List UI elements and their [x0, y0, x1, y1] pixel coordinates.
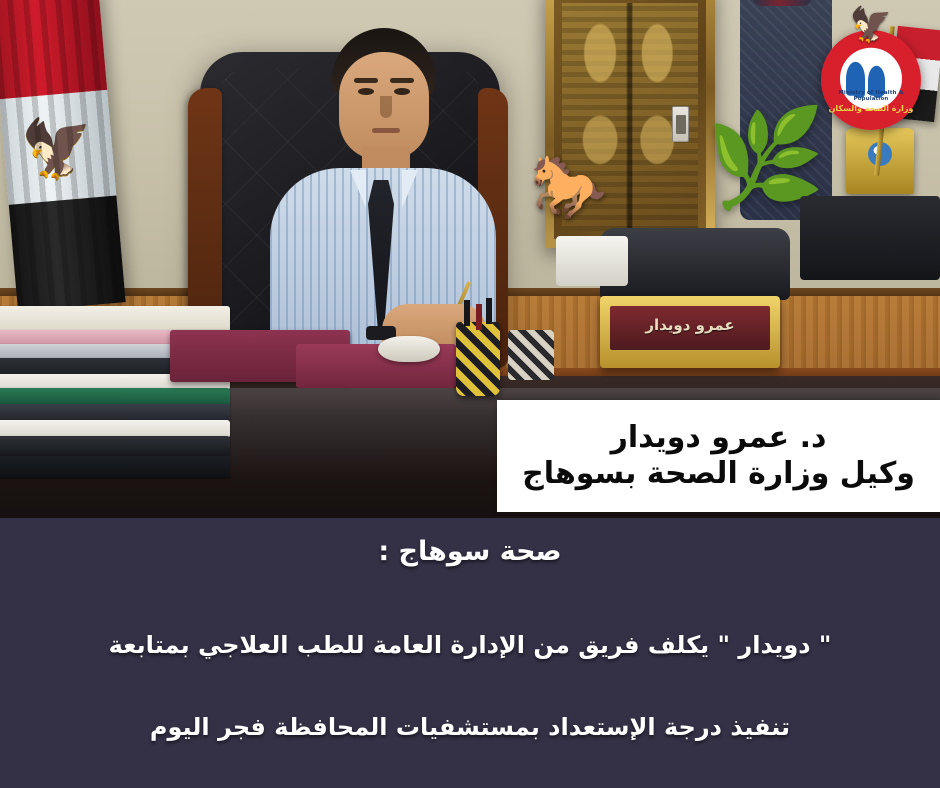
- collar-right: [402, 170, 418, 208]
- person-name: د. عمرو دويدار: [611, 421, 827, 456]
- eye-left: [358, 88, 374, 95]
- nose: [380, 96, 392, 118]
- caption-heading: صحة سوهاج :: [0, 536, 940, 567]
- desk-nameplate-text: عمرو دويدار: [618, 316, 762, 334]
- name-banner: د. عمرو دويدار وكيل وزارة الصحة بسوهاج: [497, 400, 940, 512]
- black-bag: [600, 228, 790, 300]
- wall-switch-plate: [672, 106, 689, 142]
- caption-line-2: تنفيذ درجة الإستعداد بمستشفيات المحافظة …: [0, 713, 940, 741]
- collar-left: [350, 170, 366, 208]
- logo-text-arabic: وزارة الصحة والسكان: [821, 104, 921, 113]
- mouth: [372, 128, 400, 133]
- caption-line-1: " دويدار " يكلف فريق من الإدارة العامة ل…: [0, 631, 940, 659]
- round-tray: [378, 336, 440, 362]
- ministry-of-health-logo: 🦅 Ministry of Health & Population وزارة …: [812, 8, 930, 148]
- file-sheet: [0, 456, 230, 478]
- file-sheet: [0, 306, 230, 332]
- tissue-box: [556, 236, 628, 286]
- pen-holder: [456, 322, 500, 396]
- eye-right: [394, 88, 410, 95]
- caption-panel: صحة سوهاج : " دويدار " يكلف فريق من الإد…: [0, 518, 940, 788]
- desk-cup: [508, 330, 554, 380]
- eyebrow-left: [354, 78, 378, 83]
- eyebrow-right: [390, 78, 414, 83]
- desk-nameplate: عمرو دويدار: [600, 296, 780, 368]
- desk-items-right: [800, 196, 940, 280]
- office-photo: 🌿 🦅: [0, 0, 940, 518]
- logo-text-english: Ministry of Health & Population: [821, 90, 921, 102]
- news-card: 🌿 🦅: [0, 0, 940, 788]
- logo-disc: Ministry of Health & Population وزارة ال…: [821, 30, 921, 130]
- person-title: وكيل وزارة الصحة بسوهاج: [522, 457, 915, 492]
- file-sheet: [0, 436, 230, 456]
- eagle-crest-icon: 🦅: [850, 8, 892, 42]
